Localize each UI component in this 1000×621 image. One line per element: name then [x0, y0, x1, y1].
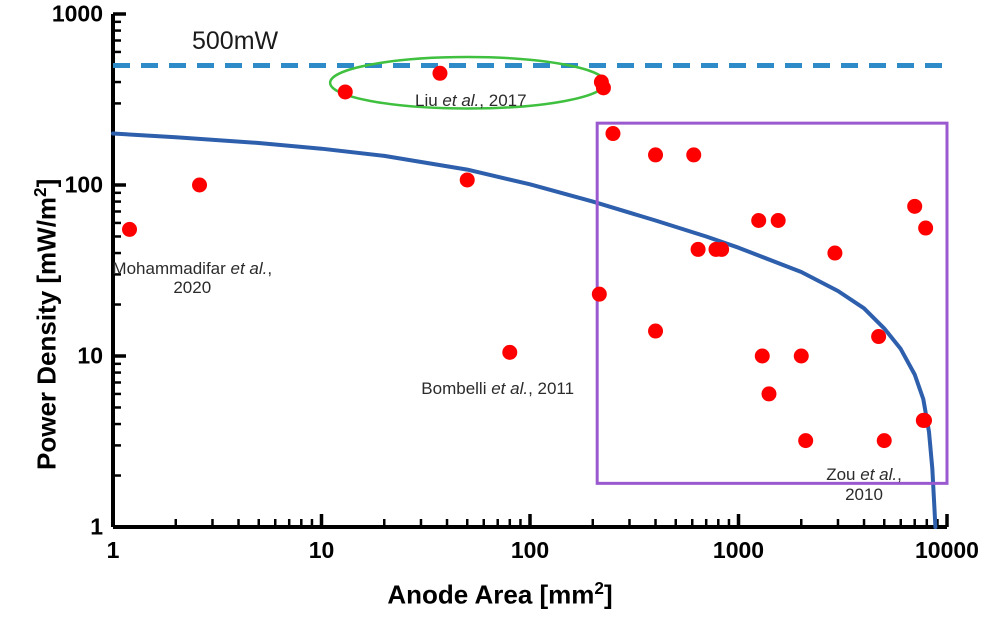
data-point — [877, 433, 892, 448]
x-tick-label-10000: 10000 — [915, 537, 979, 564]
x-tick-label-100: 100 — [511, 537, 549, 564]
data-point — [605, 126, 620, 141]
mohammadifar-annotation: Mohammadifar et al., 2020 — [112, 259, 272, 298]
data-point — [827, 246, 842, 261]
zou-annotation: Zou et al., 2010 — [826, 465, 902, 504]
y-axis-title: Power Density [mW/m2] — [30, 179, 63, 470]
bombelli-name: Bombelli — [421, 379, 491, 398]
data-point — [798, 433, 813, 448]
x-axis-title-exponent: 2 — [594, 578, 604, 598]
zou-etal: et al. — [860, 465, 897, 484]
chart-figure: 500mW Mohammadifar et al., 2020 Liu et a… — [0, 0, 1000, 621]
data-point — [917, 413, 932, 428]
data-point — [192, 178, 207, 193]
data-point — [771, 213, 786, 228]
x-tick-label-1000: 1000 — [713, 537, 764, 564]
x-axis-title-end: ] — [604, 580, 613, 610]
data-point — [596, 80, 611, 95]
y-tick-label-1: 1 — [35, 514, 103, 541]
data-point — [751, 213, 766, 228]
data-point — [648, 147, 663, 162]
zou-highlight-box — [597, 123, 947, 483]
data-point — [432, 66, 447, 81]
liu-etal: et al. — [442, 91, 479, 110]
mohammadifar-line1-post: , — [267, 259, 272, 278]
mohammadifar-line1-pre: Mohammadifar — [112, 259, 230, 278]
data-point — [592, 287, 607, 302]
y-tick-label-100: 100 — [35, 172, 103, 199]
data-point — [686, 147, 701, 162]
x-tick-label-1: 1 — [107, 537, 120, 564]
bombelli-etal: et al. — [491, 379, 528, 398]
zou-comma: , — [897, 465, 902, 484]
data-point — [338, 84, 353, 99]
liu-year: , 2017 — [479, 91, 526, 110]
data-point — [714, 242, 729, 257]
mohammadifar-year: 2020 — [173, 278, 211, 297]
y-axis-title-main: Power Density [mW/m — [32, 197, 62, 470]
data-point — [502, 345, 517, 360]
threshold-label: 500mW — [192, 27, 278, 56]
y-tick-label-10: 10 — [35, 343, 103, 370]
zou-name: Zou — [826, 465, 860, 484]
x-axis-title-main: Anode Area [mm — [387, 580, 594, 610]
data-point — [460, 172, 475, 187]
zou-year: 2010 — [845, 485, 883, 504]
liu-name: Liu — [415, 91, 442, 110]
x-axis-title: Anode Area [mm2] — [0, 578, 1000, 611]
data-point — [755, 349, 770, 364]
bombelli-annotation: Bombelli et al., 2011 — [421, 379, 574, 399]
y-tick-label-1000: 1000 — [35, 1, 103, 28]
data-point — [871, 329, 886, 344]
data-point — [907, 199, 922, 214]
limit-curve — [113, 134, 935, 528]
data-point — [648, 324, 663, 339]
bombelli-year: , 2011 — [528, 379, 574, 398]
x-tick-label-10: 10 — [309, 537, 335, 564]
mohammadifar-etal: et al. — [231, 259, 268, 278]
data-point — [122, 222, 137, 237]
data-point — [761, 386, 776, 401]
data-point — [691, 242, 706, 257]
data-point — [794, 349, 809, 364]
liu-annotation: Liu et al., 2017 — [415, 91, 527, 111]
data-point — [918, 221, 933, 236]
